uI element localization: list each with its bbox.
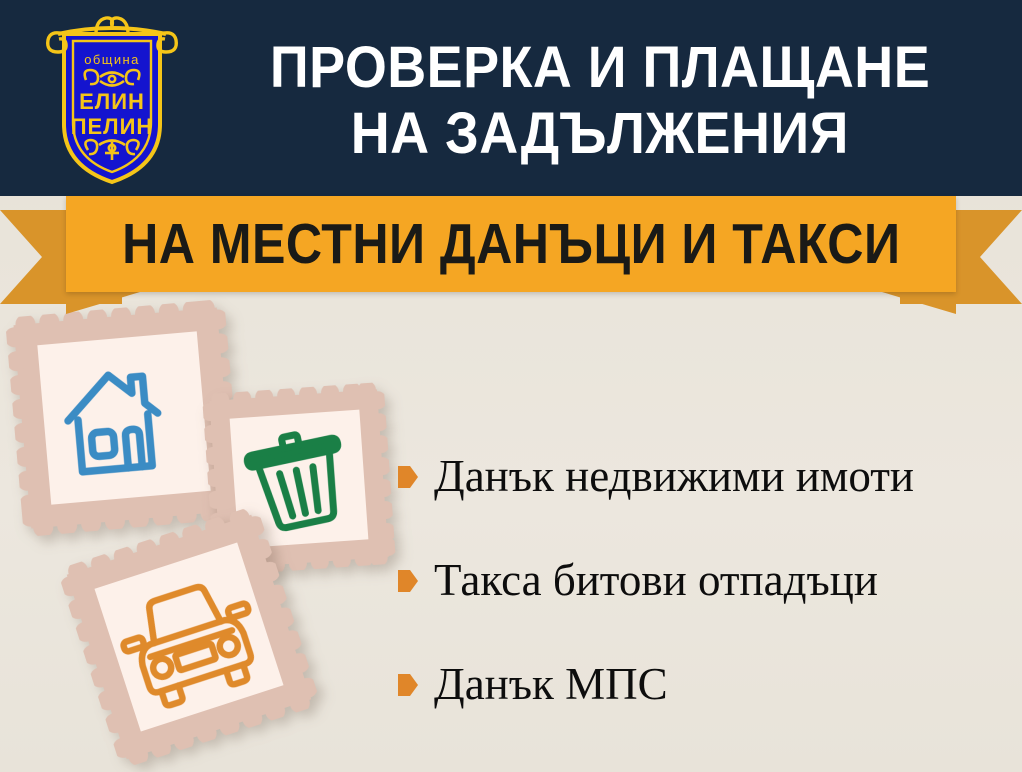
municipality-crest-logo: община ЕЛИН ПЕЛИН [38,8,186,188]
poster-canvas: община ЕЛИН ПЕЛИН ПРО [0,0,1022,772]
arrow-bullet-icon [398,672,418,698]
list-item-label: Такса битови отпадъци [434,558,878,603]
title-line-1: ПРОВЕРКА И ПЛАЩАНЕ [270,35,930,101]
list-item-label: Данък недвижими имоти [434,454,914,499]
ribbon-fold-right [882,292,956,314]
arrow-bullet-icon [398,464,418,490]
arrow-bullet-icon [398,568,418,594]
crest-municipality-word: община [84,52,139,67]
list-item: Такса битови отпадъци [398,528,1018,632]
tax-type-list: Данък недвижими имоти Такса битови отпад… [398,424,1018,736]
crest-name-line-1: ЕЛИН [79,89,145,114]
list-item: Данък МПС [398,632,1018,736]
ribbon-plate: НА МЕСТНИ ДАНЪЦИ И ТАКСИ [66,196,956,292]
title-line-2: НА ЗАДЪЛЖЕНИЯ [351,101,849,167]
crest-name-line-2: ПЕЛИН [71,114,154,139]
ribbon-banner: НА МЕСТНИ ДАНЪЦИ И ТАКСИ [0,196,1022,314]
ribbon-subtitle: НА МЕСТНИ ДАНЪЦИ И ТАКСИ [122,211,900,277]
list-item-label: Данък МПС [434,662,668,707]
ribbon-fold-left [66,292,140,314]
stamp-card-group [0,300,420,772]
poster-title: ПРОВЕРКА И ПЛАЩАНЕ НА ЗАДЪЛЖЕНИЯ [190,16,1010,186]
list-item: Данък недвижими имоти [398,424,1018,528]
